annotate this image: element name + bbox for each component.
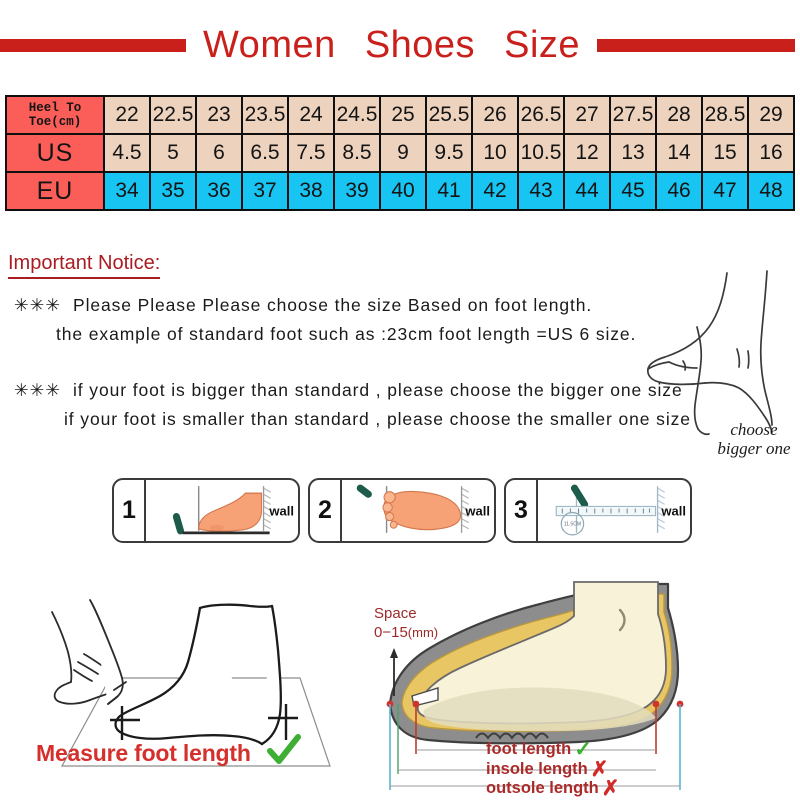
length-measurement-labels: foot length ✓ insole length ✗ outsole le…	[486, 740, 619, 799]
cell-eu: 38	[288, 172, 334, 210]
cell-us: 12	[564, 134, 610, 172]
table-row-eu: EU 34 35 36 37 38 39 40 41 42 43 44 45 4…	[6, 172, 794, 210]
title-word-shoes: Shoes	[365, 24, 475, 66]
cell-cm: 23	[196, 96, 242, 134]
step-panel-2: 2 wall	[308, 478, 496, 543]
foot-length-label: foot length	[486, 740, 571, 760]
cell-us: 16	[748, 134, 794, 172]
cell-us: 6.5	[242, 134, 288, 172]
cell-us: 4.5	[104, 134, 150, 172]
cell-cm: 28.5	[702, 96, 748, 134]
cell-eu: 39	[334, 172, 380, 210]
cell-us: 7.5	[288, 134, 334, 172]
cell-eu: 47	[702, 172, 748, 210]
cross-icon: ✗	[602, 779, 620, 799]
space-label-line2: 0−15(mm)	[374, 623, 438, 642]
size-conversion-table: Heel To Toe(cm) 22 22.5 23 23.5 24 24.5 …	[5, 95, 795, 211]
cell-eu: 40	[380, 172, 426, 210]
cell-us: 9.5	[426, 134, 472, 172]
page-title: Women Shoes Size	[194, 24, 589, 67]
choose-caption-line2: bigger one	[694, 439, 800, 458]
cell-us: 6	[196, 134, 242, 172]
cell-cm: 24	[288, 96, 334, 134]
cell-cm: 27	[564, 96, 610, 134]
cell-cm: 22	[104, 96, 150, 134]
cell-us: 10.5	[518, 134, 564, 172]
step-number-3: 3	[506, 480, 538, 541]
step-2-illustration: wall	[342, 480, 494, 541]
outsole-length-label-row: outsole length ✗	[486, 779, 619, 799]
cell-eu: 45	[610, 172, 656, 210]
choose-caption-line1: choose	[694, 420, 800, 439]
outsole-length-label: outsole length	[486, 779, 599, 799]
important-notice-heading: Important Notice:	[8, 252, 160, 279]
step-number-2: 2	[310, 480, 342, 541]
measure-foot-length-caption: Measure foot length	[36, 740, 251, 767]
notice-line-2: the example of standard foot such as :23…	[56, 324, 636, 345]
cell-eu: 48	[748, 172, 794, 210]
cell-cm: 25.5	[426, 96, 472, 134]
notice-bullet-icon: ✳✳✳	[14, 295, 61, 315]
foot-length-label-row: foot length ✓	[486, 740, 619, 760]
cell-eu: 35	[150, 172, 196, 210]
cell-us: 13	[610, 134, 656, 172]
measurement-steps: 1 wall 2	[112, 478, 692, 543]
cell-eu: 34	[104, 172, 150, 210]
cell-cm: 26	[472, 96, 518, 134]
step-panel-1: 1 wall	[112, 478, 300, 543]
cell-eu: 36	[196, 172, 242, 210]
cell-us: 8.5	[334, 134, 380, 172]
title-decoration-left	[0, 39, 186, 52]
space-unit: (mm)	[408, 625, 438, 640]
title-word-size: Size	[504, 24, 580, 66]
wall-label-1: wall	[269, 503, 294, 518]
green-check-icon	[265, 733, 303, 771]
row-label-heel-to-toe: Heel To Toe(cm)	[6, 96, 104, 134]
notice-line-1-text: Please Please Please choose the size Bas…	[73, 295, 592, 315]
notice-bullet-icon: ✳✳✳	[14, 380, 61, 400]
check-icon: ✓	[574, 740, 592, 760]
cell-cm: 26.5	[518, 96, 564, 134]
cell-eu: 42	[472, 172, 518, 210]
cell-us: 9	[380, 134, 426, 172]
cell-us: 10	[472, 134, 518, 172]
cell-eu: 37	[242, 172, 288, 210]
space-label-line1: Space	[374, 604, 438, 623]
row-label-eu: EU	[6, 172, 104, 210]
cell-eu: 46	[656, 172, 702, 210]
step-number-1: 1	[114, 480, 146, 541]
table-row-heel-to-toe: Heel To Toe(cm) 22 22.5 23 23.5 24 24.5 …	[6, 96, 794, 134]
step-panel-3: 3 11.5CM	[504, 478, 692, 543]
cell-us: 5	[150, 134, 196, 172]
svg-text:11.5CM: 11.5CM	[564, 522, 581, 528]
wall-label-2: wall	[465, 503, 490, 518]
cell-cm: 28	[656, 96, 702, 134]
cell-us: 14	[656, 134, 702, 172]
cell-cm: 22.5	[150, 96, 196, 134]
space-annotation: Space 0−15(mm)	[374, 604, 438, 642]
insole-length-label: insole length	[486, 760, 588, 780]
notice-line-3-text: if your foot is bigger than standard , p…	[73, 380, 683, 400]
cell-eu: 44	[564, 172, 610, 210]
notice-line-1: ✳✳✳Please Please Please choose the size …	[14, 295, 592, 316]
cell-cm: 24.5	[334, 96, 380, 134]
row-label-us: US	[6, 134, 104, 172]
step-1-illustration: wall	[146, 480, 298, 541]
title-decoration-right	[597, 39, 795, 52]
choose-bigger-one-caption: choose bigger one	[694, 420, 800, 458]
space-range: 0−15	[374, 624, 408, 641]
wall-label-3: wall	[661, 503, 686, 518]
table-row-us: US 4.5 5 6 6.5 7.5 8.5 9 9.5 10 10.5 12 …	[6, 134, 794, 172]
cell-cm: 27.5	[610, 96, 656, 134]
notice-line-4: if your foot is smaller than standard , …	[64, 409, 691, 430]
page-title-row: Women Shoes Size	[0, 22, 800, 68]
insole-length-label-row: insole length ✗	[486, 760, 619, 780]
measure-check-icon	[265, 733, 303, 771]
step-3-illustration: 11.5CM wall	[538, 480, 690, 541]
cell-cm: 29	[748, 96, 794, 134]
cell-cm: 25	[380, 96, 426, 134]
notice-line-3: ✳✳✳if your foot is bigger than standard …	[14, 380, 683, 401]
cell-eu: 43	[518, 172, 564, 210]
title-word-women: Women	[203, 24, 336, 66]
cell-us: 15	[702, 134, 748, 172]
cell-eu: 41	[426, 172, 472, 210]
cell-cm: 23.5	[242, 96, 288, 134]
